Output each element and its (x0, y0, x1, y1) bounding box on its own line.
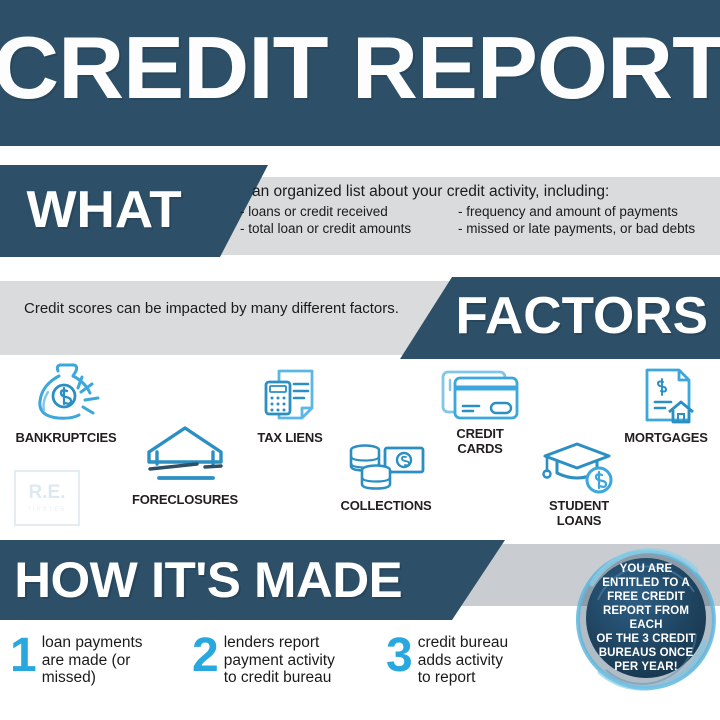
watermark: R.E. TIPSTER (14, 470, 80, 526)
factor-item-bankruptcies: BANKRUPTCIES (2, 362, 130, 446)
what-bullet-left-1: - loans or credit received (240, 204, 458, 221)
factor-label-mortgages: MORTGAGES (612, 431, 720, 446)
what-headline: an organized list about your credit acti… (252, 183, 714, 201)
step-number-1: 1 (10, 634, 37, 678)
step-text-3: credit bureau adds activity to report (418, 632, 508, 687)
factor-label-foreclosures: FORECLOSURES (120, 493, 250, 508)
factor-item-mortgages: MORTGAGES (612, 366, 720, 446)
what-bullet-left-2: - total loan or credit amounts (240, 221, 458, 238)
factors-section: Credit scores can be impacted by many di… (0, 277, 720, 359)
calculator-document-icon (254, 366, 326, 428)
factor-item-student-loans: STUDENT LOANS (524, 438, 634, 528)
what-bullet-right-1: - frequency and amount of payments (458, 204, 716, 221)
document-house-icon (633, 366, 699, 428)
what-bullet-right-2: - missed or late payments, or bad debts (458, 221, 716, 238)
factor-item-credit-cards: CREDIT CARDS (424, 366, 536, 456)
sinking-house-icon (137, 422, 233, 490)
step-number-2: 2 (192, 634, 219, 678)
step-item-3: 3 credit bureau adds activity to report (386, 632, 556, 712)
credit-cards-icon (435, 366, 525, 424)
coins-cash-icon (343, 438, 429, 496)
factor-item-tax-liens: TAX LIENS (238, 366, 342, 446)
factor-item-foreclosures: FORECLOSURES (120, 422, 250, 508)
step-number-3: 3 (386, 634, 413, 678)
free-report-badge: YOU ARE ENTITLED TO A FREE CREDIT REPORT… (576, 538, 716, 698)
graduation-cap-coin-icon (539, 438, 619, 496)
what-heading: WHAT (26, 179, 181, 241)
factors-heading: FACTORS (456, 285, 708, 347)
what-bullets-right: - frequency and amount of payments - mis… (458, 204, 716, 237)
step-text-1: loan payments are made (or missed) (42, 632, 143, 687)
badge-text: YOU ARE ENTITLED TO A FREE CREDIT REPORT… (576, 538, 716, 698)
watermark-main: R.E. (29, 483, 66, 502)
how-its-made-heading: HOW IT'S MADE (14, 550, 402, 610)
step-text-2: lenders report payment activity to credi… (224, 632, 335, 687)
factor-label-collections: COLLECTIONS (326, 499, 446, 514)
factor-label-bankruptcies: BANKRUPTCIES (2, 431, 130, 446)
page-title: CREDIT REPORT (0, 16, 720, 120)
factor-label-student-loans: STUDENT LOANS (524, 499, 634, 528)
factor-label-credit-cards: CREDIT CARDS (424, 427, 536, 456)
infographic-page: CREDIT REPORT WHAT an organized list abo… (0, 0, 720, 720)
what-section: WHAT an organized list about your credit… (0, 165, 720, 257)
steps-list: 1 loan payments are made (or missed) 2 l… (0, 632, 570, 712)
header-banner: CREDIT REPORT (0, 0, 720, 146)
factors-description: Credit scores can be impacted by many di… (24, 299, 424, 318)
what-bullets-left: - loans or credit received - total loan … (240, 204, 458, 237)
step-item-2: 2 lenders report payment activity to cre… (192, 632, 382, 712)
step-item-1: 1 loan payments are made (or missed) (10, 632, 188, 712)
what-bullet-columns: - loans or credit received - total loan … (240, 204, 716, 237)
factors-icon-grid: BANKRUPTCIES FORECLOSURES (0, 360, 720, 535)
money-bag-burst-icon (28, 362, 104, 428)
watermark-sub: TIPSTER (27, 507, 66, 513)
